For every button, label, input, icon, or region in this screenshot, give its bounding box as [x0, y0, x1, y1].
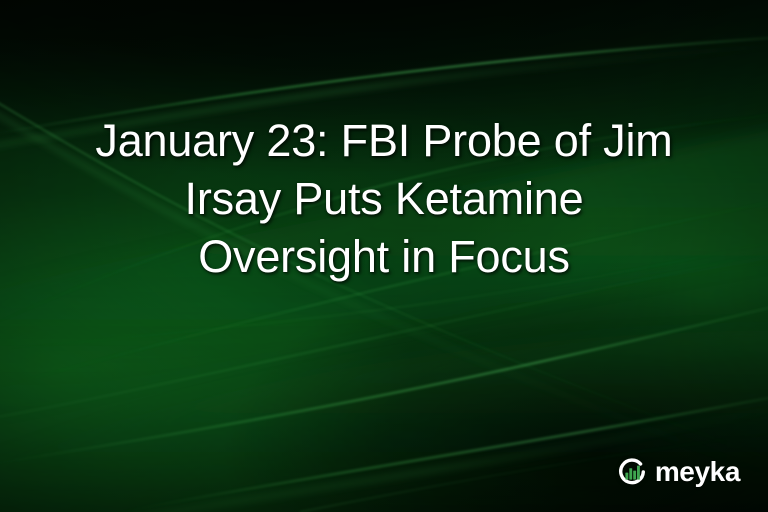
page-title: January 23: FBI Probe of Jim Irsay Puts … [95, 112, 672, 286]
headline-container: January 23: FBI Probe of Jim Irsay Puts … [0, 112, 768, 286]
news-card: January 23: FBI Probe of Jim Irsay Puts … [0, 0, 768, 512]
circle-bar-chart-icon [616, 456, 648, 488]
brand-logo[interactable]: meyka [616, 456, 740, 488]
brand-name: meyka [655, 457, 740, 487]
